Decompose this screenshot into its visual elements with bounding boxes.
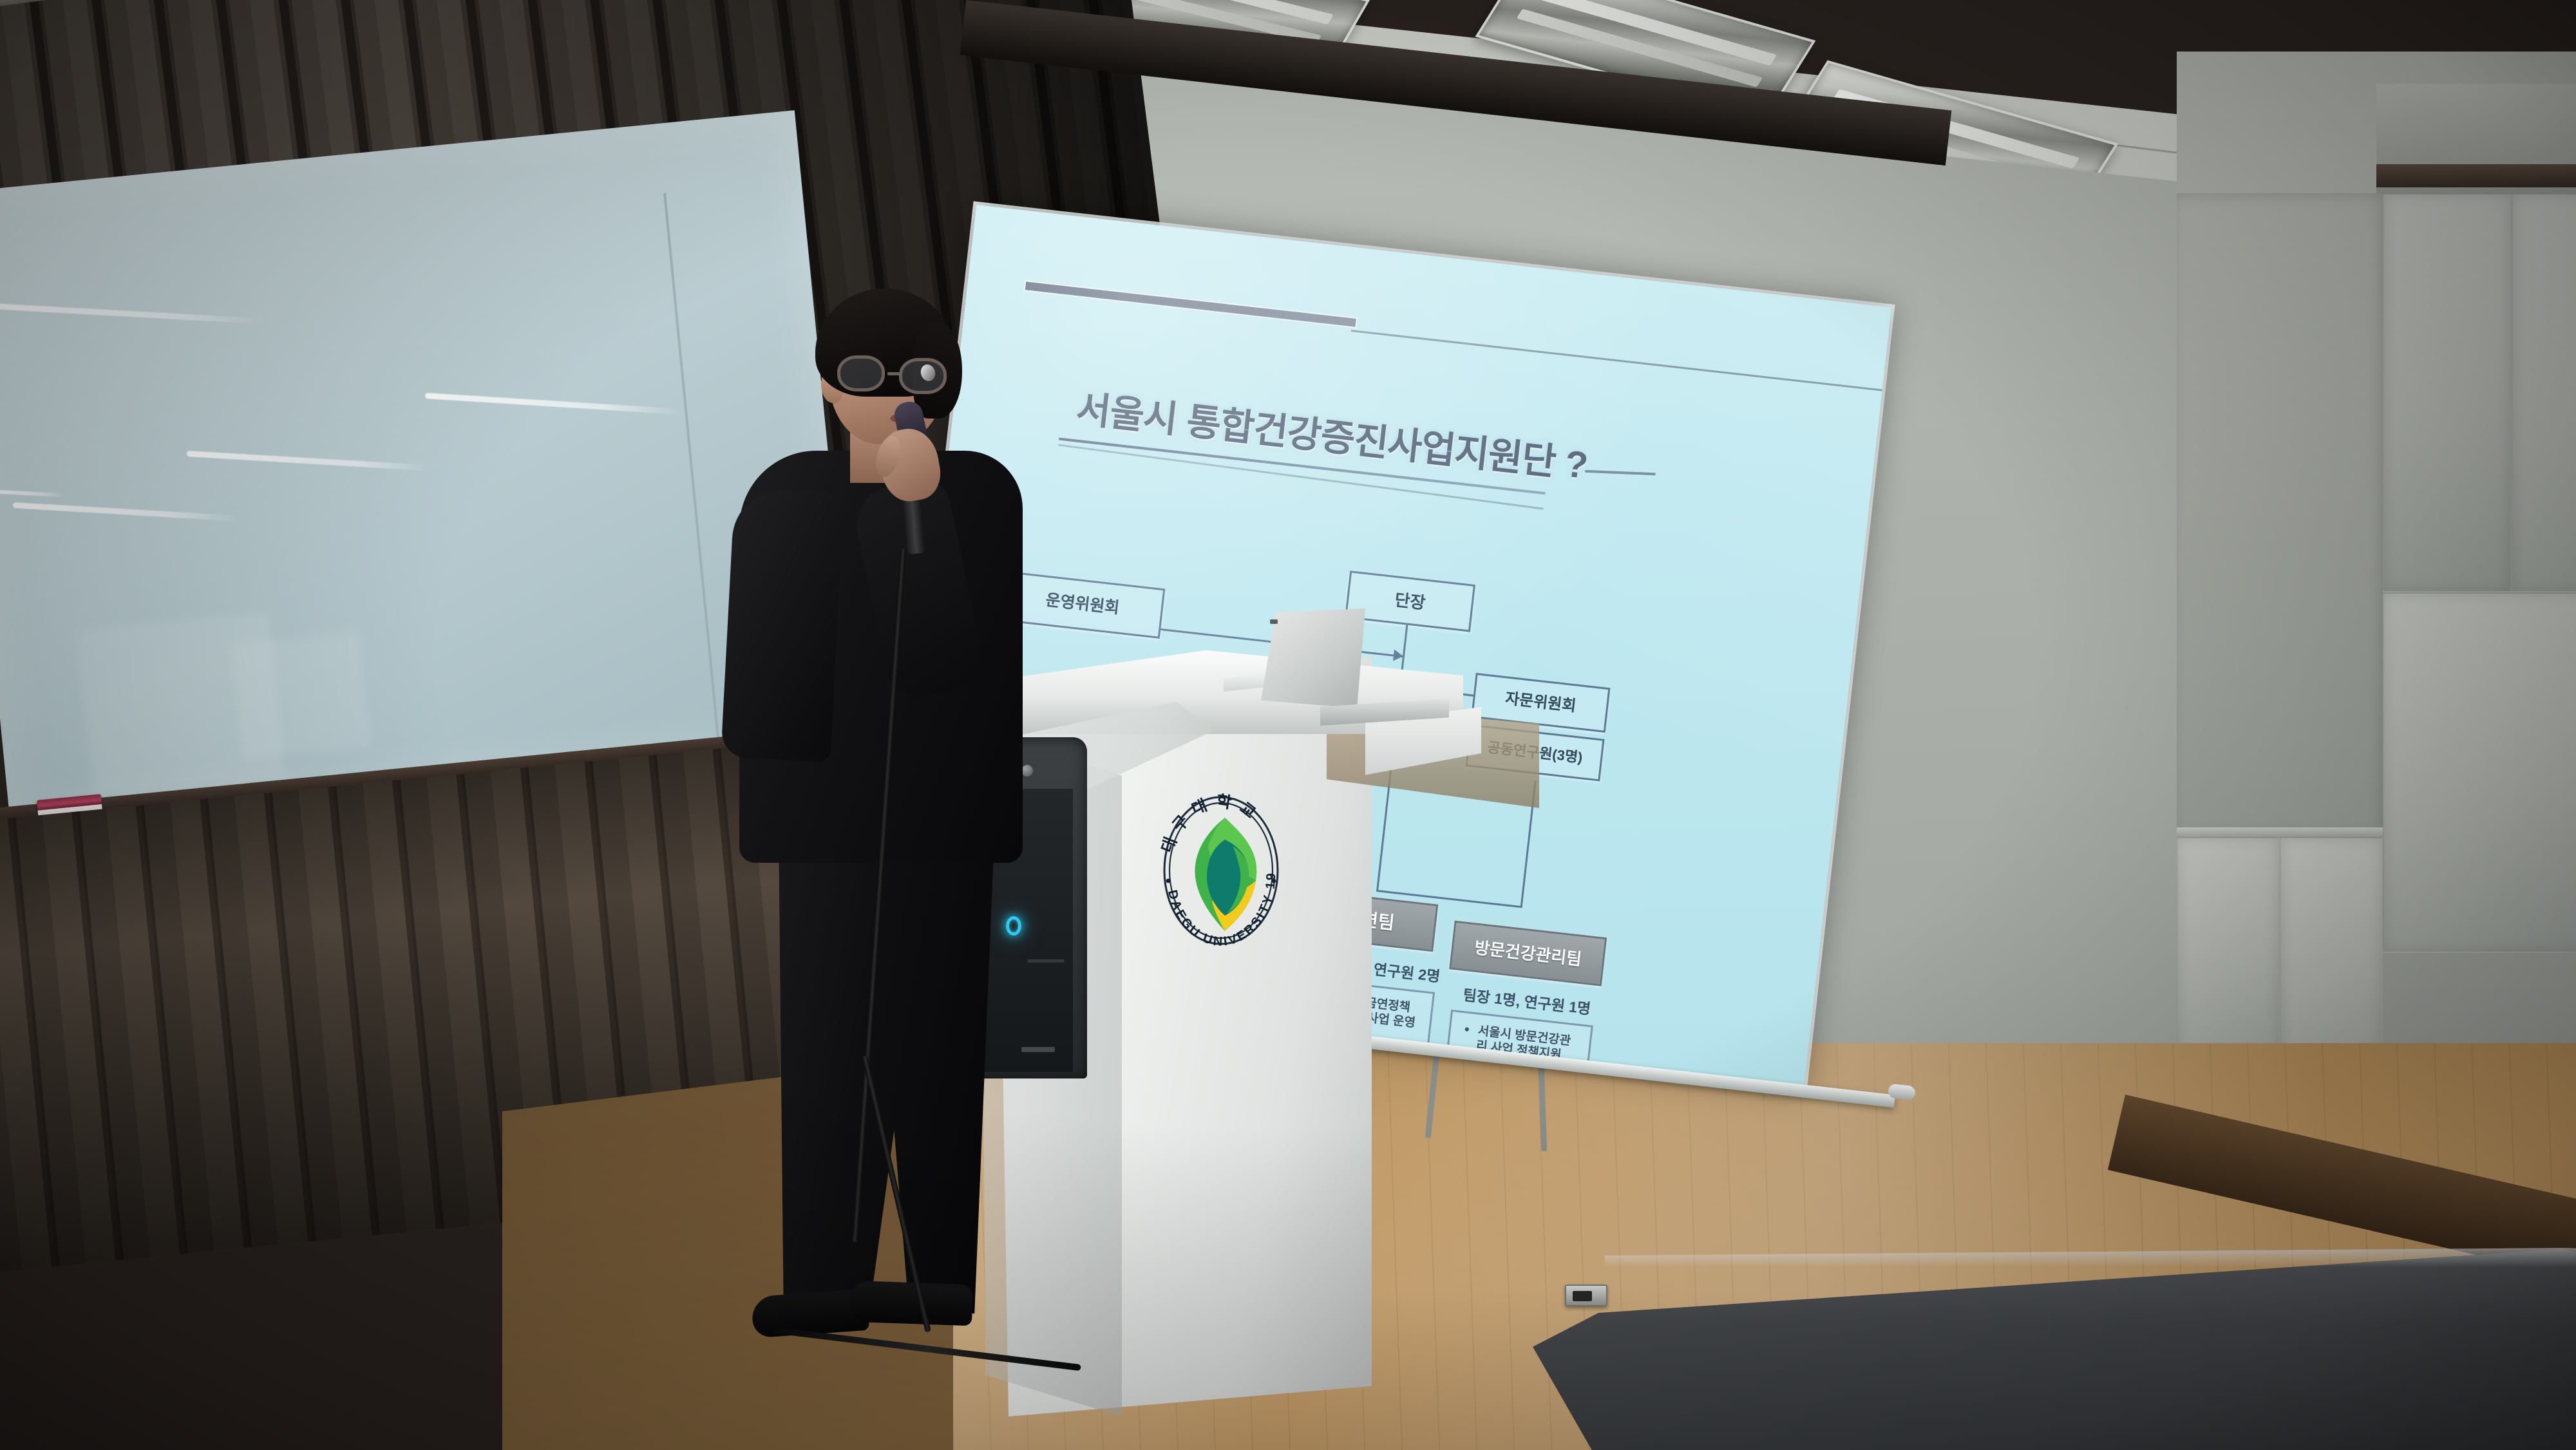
slide-title: 서울시 통합건강증진사업지원단 ? [1074,379,1591,489]
speaker-left-shoulder [721,487,844,762]
right-wall-rail [2376,164,2576,187]
org-arrow-steering [1393,650,1404,663]
org-box-steering-committee: 운영위원회 [999,571,1165,639]
daegu-university-emblem: 대구대학교 DAEGU UNIVERSITY 1956 [1153,784,1289,957]
laptop-webcam-icon [1270,619,1278,624]
optical-drive-slot[interactable] [1028,959,1064,963]
slide-decorative-bar [1024,280,1358,328]
org-box-team-home-health: 방문건강관리팀 [1449,921,1607,986]
lecture-hall-photo: 서울시 통합건강증진사업지원단 ? 단장 운영위원회 자문위원회 공동연구원(3… [0,0,2576,1450]
speaker-shoe [849,1281,973,1326]
computer-tower-brand-label [1021,1047,1055,1052]
power-button-icon[interactable] [1006,916,1021,936]
bay-lock-icon [1021,765,1033,777]
window-roller-blind[interactable] [2177,193,2389,837]
floor-power-outlet[interactable] [1565,1285,1607,1306]
slide-title-tick-mark [1585,470,1656,476]
org-box-director: 단장 [1345,570,1475,632]
glass-reflection [232,631,372,759]
eyeglasses-bridge-icon [887,372,902,375]
acoustic-wall-panel [2512,193,2576,592]
slide-decorative-hairline [1351,330,1882,391]
acoustic-wall-panel [2383,193,2512,592]
acoustic-wall-panel [2383,592,2576,953]
eyeglasses-left-lens-icon [837,355,885,391]
